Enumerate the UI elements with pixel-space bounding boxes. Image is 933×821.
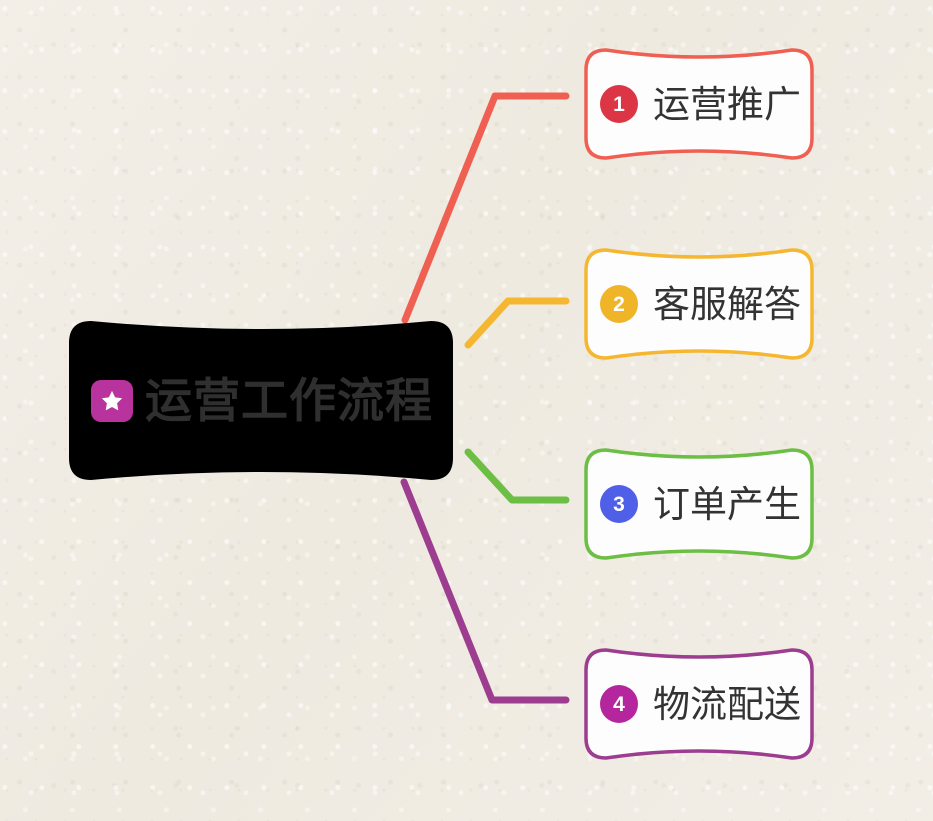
mindmap-canvas: 运营工作流程 1 运营推广 2 客服解答 bbox=[0, 0, 933, 821]
node-layer: 运营工作流程 1 运营推广 2 客服解答 bbox=[0, 0, 933, 821]
branch-4-label: 物流配送 bbox=[653, 686, 801, 723]
central-node-label: 运营工作流程 bbox=[145, 377, 433, 424]
branch-2-label: 客服解答 bbox=[653, 286, 801, 323]
star-icon bbox=[91, 380, 133, 422]
branch-node-3[interactable]: 3 订单产生 bbox=[566, 444, 832, 564]
branch-3-label: 订单产生 bbox=[653, 486, 801, 523]
branch-3-number-badge: 3 bbox=[600, 485, 638, 523]
branch-2-number-badge: 2 bbox=[600, 285, 638, 323]
branch-1-label: 运营推广 bbox=[653, 86, 801, 123]
branch-4-number-badge: 4 bbox=[600, 685, 638, 723]
branch-node-4-content: 4 物流配送 bbox=[566, 685, 801, 723]
branch-1-number-badge: 1 bbox=[600, 85, 638, 123]
branch-node-4[interactable]: 4 物流配送 bbox=[566, 644, 832, 764]
branch-node-2-content: 2 客服解答 bbox=[566, 285, 801, 323]
central-node-content: 运营工作流程 bbox=[47, 377, 433, 424]
branch-node-1-content: 1 运营推广 bbox=[566, 85, 801, 123]
branch-node-1[interactable]: 1 运营推广 bbox=[566, 44, 832, 164]
central-node[interactable]: 运营工作流程 bbox=[47, 313, 475, 488]
branch-node-3-content: 3 订单产生 bbox=[566, 485, 801, 523]
branch-node-2[interactable]: 2 客服解答 bbox=[566, 244, 832, 364]
